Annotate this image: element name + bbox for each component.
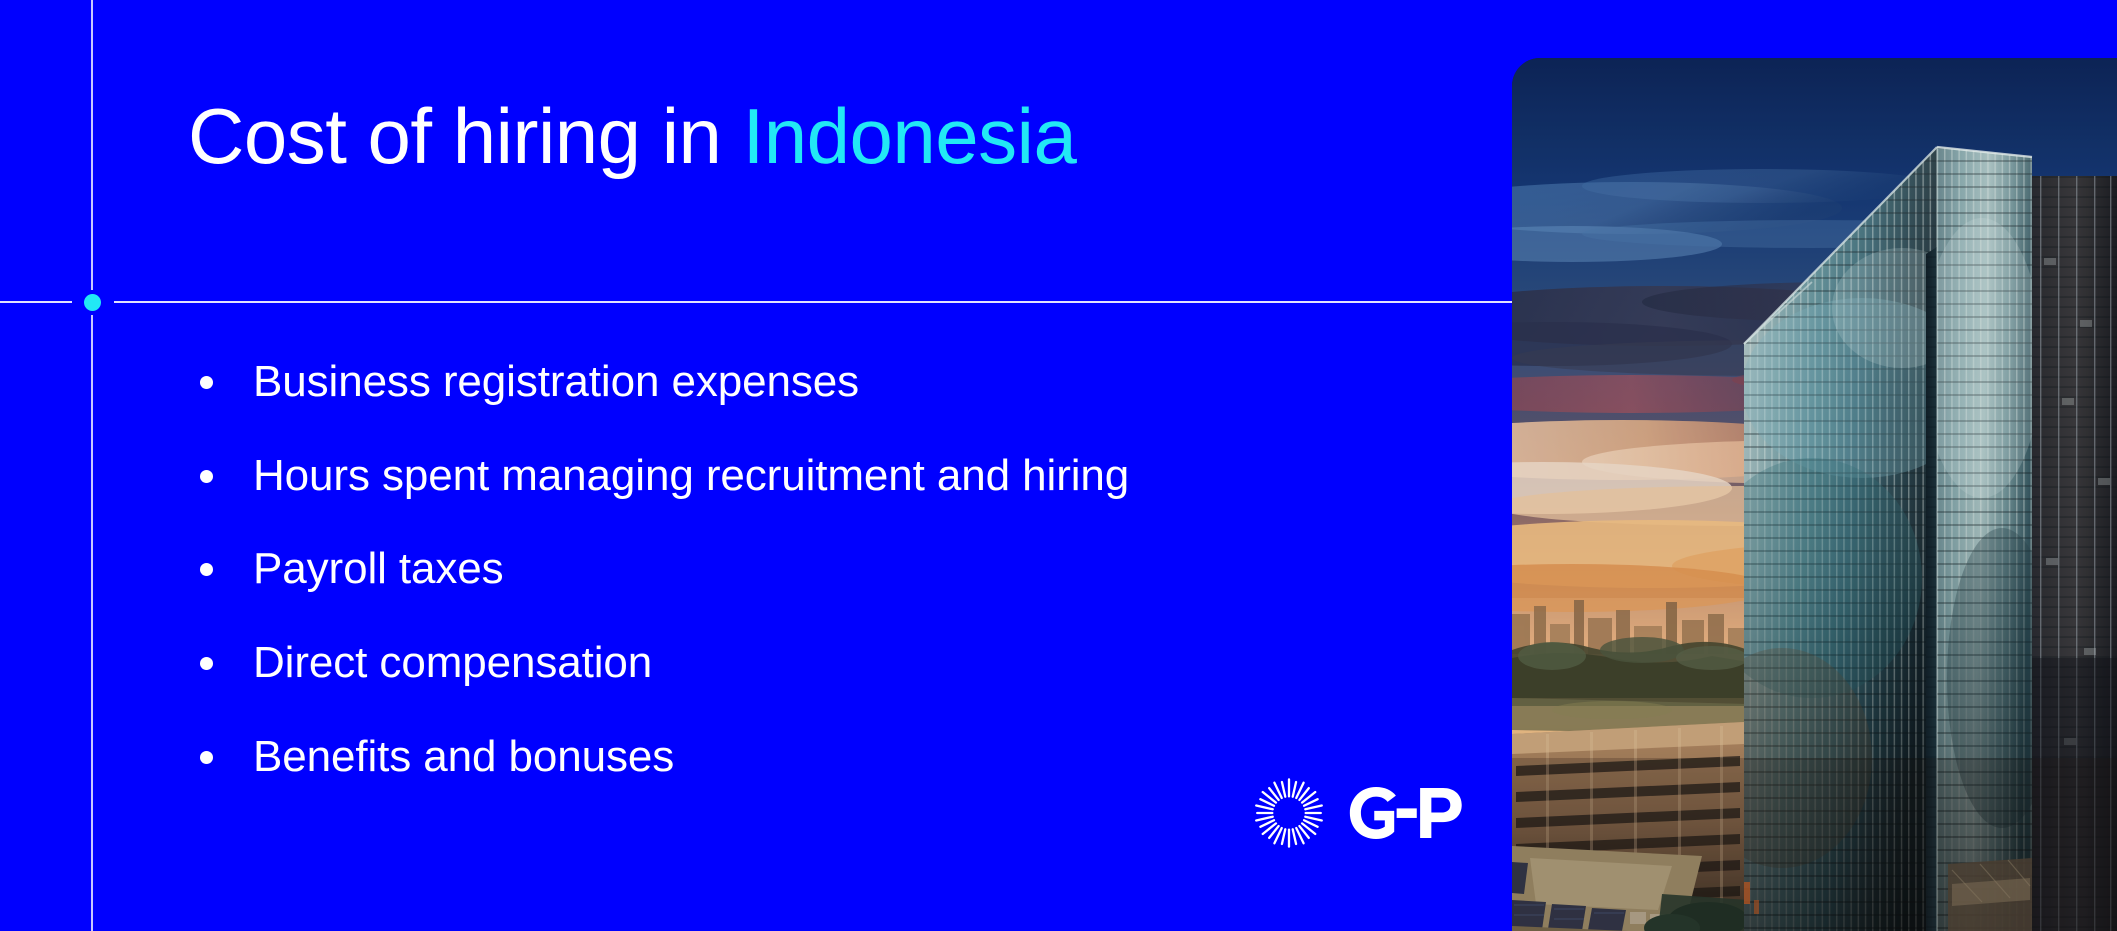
title-lead-text: Cost of hiring in: [188, 92, 743, 180]
bullet-dot-icon: [200, 657, 213, 670]
title-accent-country: Indonesia: [743, 92, 1077, 180]
gp-sunburst-icon: [1252, 776, 1326, 850]
brand-logo: [1252, 776, 1474, 850]
bullet-dot-icon: [200, 563, 213, 576]
bullet-label: Direct compensation: [253, 636, 652, 690]
list-item: Business registration expenses: [200, 355, 1430, 409]
bullet-label: Payroll taxes: [253, 542, 504, 596]
page-title: Cost of hiring in Indonesia: [188, 96, 1076, 178]
list-item: Payroll taxes: [200, 542, 1430, 596]
cost-bullet-list: Business registration expenses Hours spe…: [200, 355, 1430, 783]
bullet-dot-icon: [200, 376, 213, 389]
list-item: Direct compensation: [200, 636, 1430, 690]
horizontal-divider-rule: [0, 301, 1512, 303]
list-item: Benefits and bonuses: [200, 730, 1430, 784]
vertical-rule: [91, 0, 93, 931]
bullet-dot-icon: [200, 470, 213, 483]
bullet-label: Business registration expenses: [253, 355, 859, 409]
hero-photo-panel: [1512, 58, 2117, 931]
bullet-dot-icon: [200, 751, 213, 764]
accent-node-dot: [84, 294, 101, 311]
bullet-label: Benefits and bonuses: [253, 730, 674, 784]
gp-wordmark-icon: [1348, 787, 1474, 839]
bullet-label: Hours spent managing recruitment and hir…: [253, 449, 1129, 503]
list-item: Hours spent managing recruitment and hir…: [200, 449, 1430, 503]
slide-root: Cost of hiring in Indonesia Business reg…: [0, 0, 2117, 931]
skyscraper-sunset-photo: [1512, 58, 2117, 931]
